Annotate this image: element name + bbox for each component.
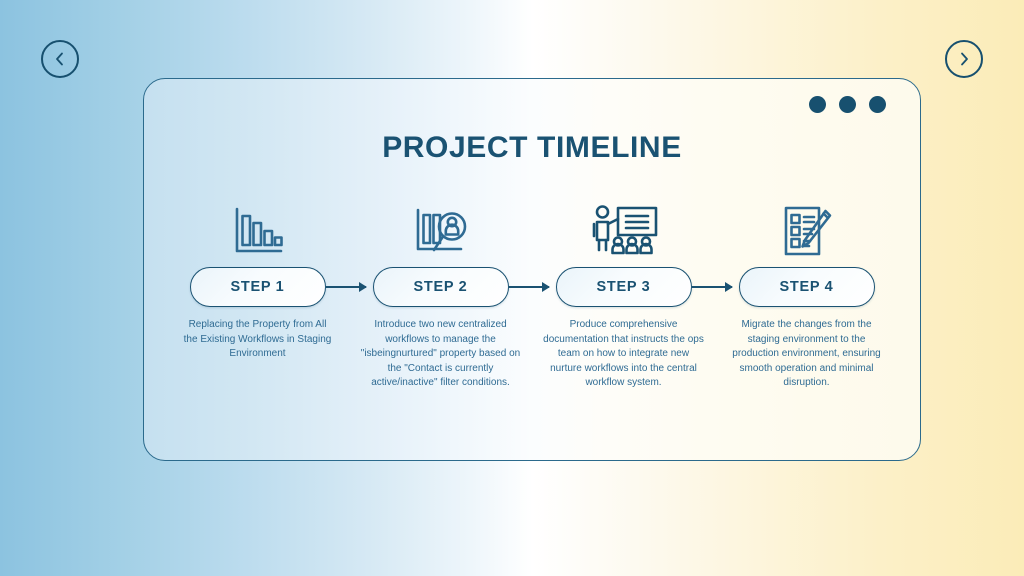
timeline-step-2: STEP 2 Introduce two new centralized wor… <box>349 197 532 391</box>
step-4-label: STEP 4 <box>780 279 834 295</box>
step-4-button[interactable]: STEP 4 <box>739 267 875 307</box>
timeline-step-3: STEP 3 Produce comprehensive documentati… <box>532 197 715 391</box>
step-2-button[interactable]: STEP 2 <box>373 267 509 307</box>
step-2-label: STEP 2 <box>414 279 468 295</box>
checklist-pen-icon <box>778 197 836 259</box>
previous-slide-button[interactable] <box>41 40 79 78</box>
presentation-training-icon <box>588 197 660 259</box>
step-1-description: Replacing the Property from All the Exis… <box>182 318 334 362</box>
chevron-right-icon <box>956 51 972 67</box>
step-3-description: Produce comprehensive documentation that… <box>542 318 706 391</box>
dot-3-icon <box>869 96 886 113</box>
step-1-button[interactable]: STEP 1 <box>190 267 326 307</box>
page-title: PROJECT TIMELINE <box>144 131 920 165</box>
bar-chart-icon <box>229 197 287 259</box>
dot-1-icon <box>809 96 826 113</box>
step-2-pill-row: STEP 2 <box>349 267 532 307</box>
chevron-left-icon <box>52 51 68 67</box>
timeline-steps: STEP 1 Replacing the Property from All t… <box>166 197 898 391</box>
timeline-slide-card: PROJECT TIMELINE STEP 1 <box>143 78 921 461</box>
timeline-step-4: STEP 4 Migrate the changes from the stag… <box>715 197 898 391</box>
step-4-description: Migrate the changes from the staging env… <box>727 318 887 391</box>
step-1-label: STEP 1 <box>231 279 285 295</box>
timeline-step-1: STEP 1 Replacing the Property from All t… <box>166 197 349 362</box>
step-2-description: Introduce two new centralized workflows … <box>361 318 521 391</box>
dot-2-icon <box>839 96 856 113</box>
next-slide-button[interactable] <box>945 40 983 78</box>
step-3-label: STEP 3 <box>597 279 651 295</box>
step-4-pill-row: STEP 4 <box>715 267 898 307</box>
chart-search-person-icon <box>411 197 471 259</box>
slide-menu-dots[interactable] <box>809 96 886 113</box>
step-3-pill-row: STEP 3 <box>532 267 715 307</box>
step-3-button[interactable]: STEP 3 <box>556 267 692 307</box>
step-1-pill-row: STEP 1 <box>166 267 349 307</box>
